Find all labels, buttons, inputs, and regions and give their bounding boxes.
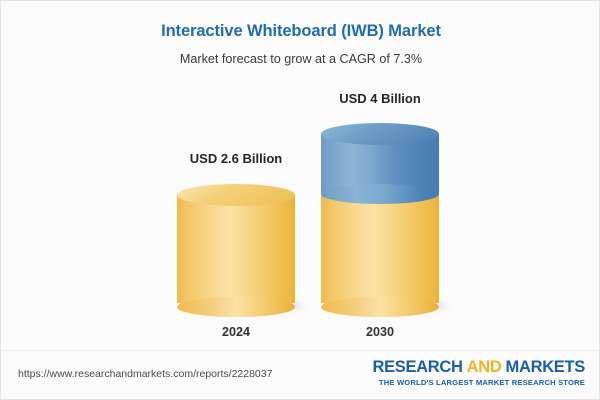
bar-top-cap-2024 (177, 184, 295, 206)
bar-group-2024: USD 2.6 Billion 2024 (167, 91, 305, 351)
bar-value-label-2030: USD 4 Billion (311, 91, 449, 106)
bar-category-label-2030: 2030 (311, 325, 449, 339)
logo-word-markets: MARKETS (506, 358, 585, 376)
logo-wordmark: RESEARCHANDMARKETS (372, 359, 585, 376)
chart-header: Interactive Whiteboard (IWB) Market Mark… (1, 1, 600, 66)
bar-cylinder-2030 (321, 123, 439, 308)
chart-title: Interactive Whiteboard (IWB) Market (1, 1, 600, 41)
chart-plot-area: USD 2.6 Billion 2024 USD 4 Billion (1, 91, 600, 351)
chart-footer: https://www.researchandmarkets.com/repor… (1, 350, 600, 399)
bar-top-cap-2030 (321, 123, 439, 145)
chart-subtitle: Market forecast to grow at a CAGR of 7.3… (1, 41, 600, 66)
chart-card: Interactive Whiteboard (IWB) Market Mark… (0, 0, 600, 400)
bar-group-2030: USD 4 Billion 2030 (311, 91, 449, 351)
logo-word-research: RESEARCH (372, 358, 462, 376)
bar-base-ellipse-2024 (177, 297, 295, 317)
bar-cylinder-2024 (177, 184, 295, 308)
logo-tagline: THE WORLD'S LARGEST MARKET RESEARCH STOR… (372, 378, 585, 387)
bar-segment-base-fill-2024 (177, 195, 295, 303)
bar-segment-base-2024 (177, 195, 295, 303)
bar-segment-base-2030 (321, 194, 439, 303)
bar-value-label-2024: USD 2.6 Billion (167, 151, 305, 166)
report-url-link[interactable]: https://www.researchandmarkets.com/repor… (18, 368, 272, 380)
research-and-markets-logo[interactable]: RESEARCHANDMARKETS THE WORLD'S LARGEST M… (372, 359, 585, 387)
bar-category-label-2024: 2024 (167, 325, 305, 339)
bar-segment-base-fill-2030 (321, 194, 439, 303)
logo-word-and: AND (467, 358, 502, 376)
bar-base-ellipse-2030 (321, 297, 439, 317)
bar-segment-divider-2030 (321, 184, 439, 204)
